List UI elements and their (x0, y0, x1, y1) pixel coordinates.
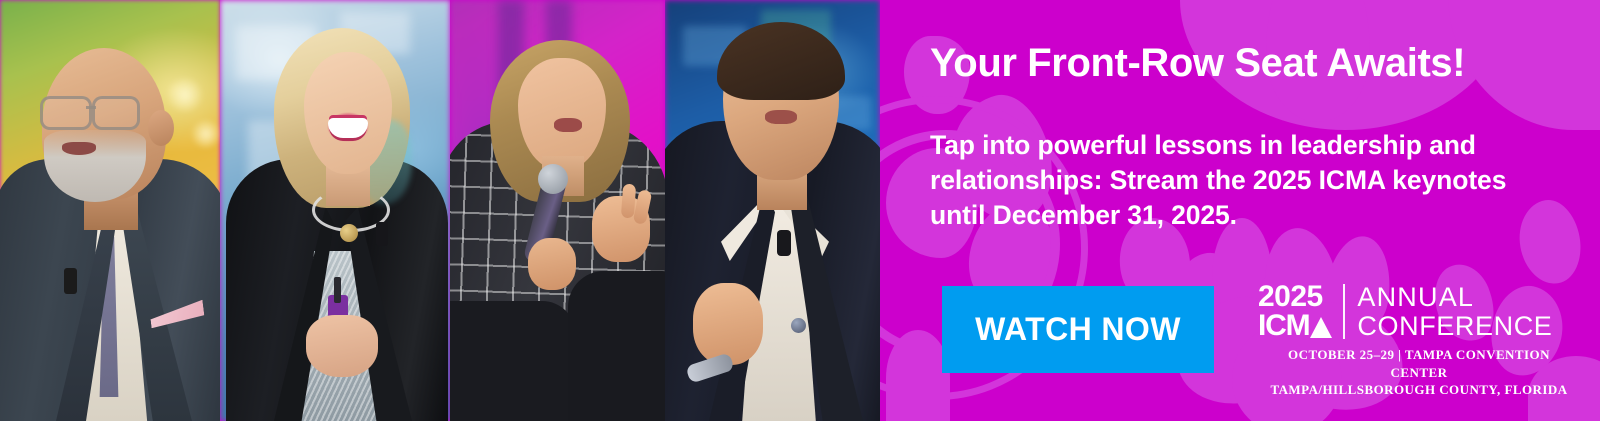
photo-2-lapel-mic (376, 222, 388, 246)
logo-triangle-a-icon (1310, 317, 1332, 338)
photo-1-glasses-bridge (86, 106, 96, 109)
photo-3-mouth (554, 118, 582, 132)
photo-1-glasses-right (92, 96, 140, 130)
logo-divider (1343, 284, 1345, 339)
photo-3-finger (621, 184, 636, 219)
photo-2-pendant (340, 224, 358, 242)
photo-1-lapel-mic (64, 268, 77, 294)
photo-3-chair (568, 271, 665, 421)
photo-1-glasses-left (40, 96, 92, 130)
promo-headline: Your Front-Row Seat Awaits! (930, 40, 1570, 86)
photo-4-lapel-mic (777, 230, 791, 256)
logo-lockup: 2025 ICM ANNUAL CONFERENCE (1258, 282, 1588, 341)
logo-right-block: ANNUAL CONFERENCE (1345, 282, 1552, 341)
logo-event-details: OCTOBER 25–29 | TAMPA CONVENTION CENTER … (1258, 346, 1580, 397)
photo-4-suit-button (791, 318, 806, 333)
logo-icma-wordmark: ICM (1258, 311, 1332, 341)
photo-2-hands (306, 315, 378, 377)
photo-1-ear (148, 110, 174, 146)
photo-2-clicker (334, 277, 341, 303)
decor-bokeh (192, 120, 220, 148)
photo-2-smile (328, 118, 368, 138)
icma-conference-logo: 2025 ICM ANNUAL CONFERENCE OCTOBER 25–29… (1258, 282, 1588, 398)
logo-year: 2025 (1258, 282, 1323, 311)
decor-petal (886, 330, 950, 421)
promo-panel: Your Front-Row Seat Awaits! Tap into pow… (880, 0, 1600, 421)
photo-4-mouth (765, 110, 797, 124)
logo-conference-text: CONFERENCE (1357, 312, 1552, 341)
speaker-photo-3 (450, 0, 665, 421)
icma-conference-banner[interactable]: Your Front-Row Seat Awaits! Tap into pow… (0, 0, 1600, 421)
speaker-photo-2 (220, 0, 450, 421)
logo-detail-line-2: TAMPA/HILLSBOROUGH COUNTY, FLORIDA (1258, 381, 1580, 398)
speaker-photo-1 (0, 0, 220, 421)
speaker-photo-strip (0, 0, 880, 421)
photo-3-skirt (450, 301, 576, 421)
logo-left-block: 2025 ICM (1258, 282, 1343, 341)
logo-icma-letters: ICM (1258, 311, 1309, 341)
logo-annual-text: ANNUAL (1357, 283, 1552, 312)
decor-bokeh (168, 78, 202, 112)
photo-3-microphone-head (538, 164, 568, 194)
promo-subcopy: Tap into powerful lessons in leadership … (930, 128, 1550, 234)
photo-3-hand-left (528, 238, 576, 290)
photo-1-mouth (62, 142, 96, 155)
logo-detail-line-1: OCTOBER 25–29 | TAMPA CONVENTION CENTER (1258, 346, 1580, 380)
watch-now-button[interactable]: WATCH NOW (942, 286, 1214, 373)
speaker-photo-4 (665, 0, 880, 421)
photo-4-hand (693, 283, 763, 365)
